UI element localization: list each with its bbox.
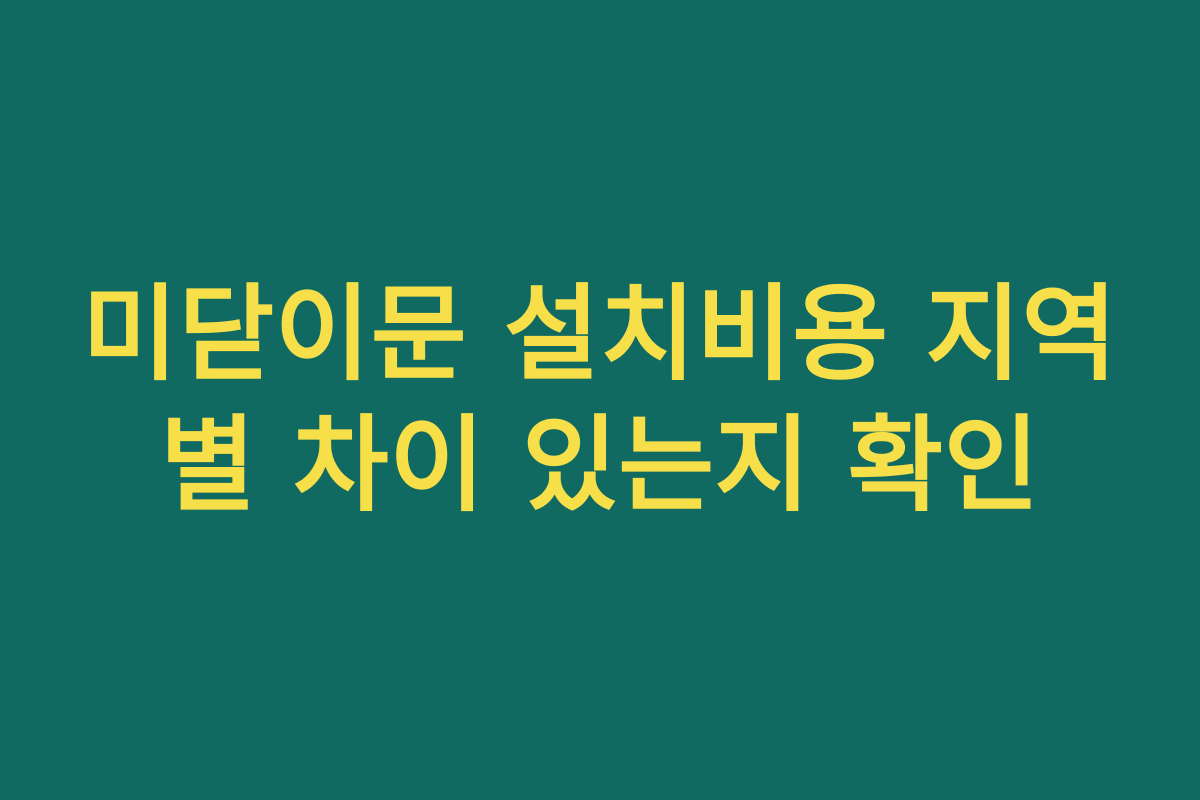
poster-canvas: 미닫이문 설치비용 지역 별 차이 있는지 확인 xyxy=(0,0,1200,800)
headline-line-1: 미닫이문 설치비용 지역 xyxy=(0,269,1200,400)
headline-text-block: 미닫이문 설치비용 지역 별 차이 있는지 확인 xyxy=(0,269,1200,531)
headline-line-2: 별 차이 있는지 확인 xyxy=(0,400,1200,531)
